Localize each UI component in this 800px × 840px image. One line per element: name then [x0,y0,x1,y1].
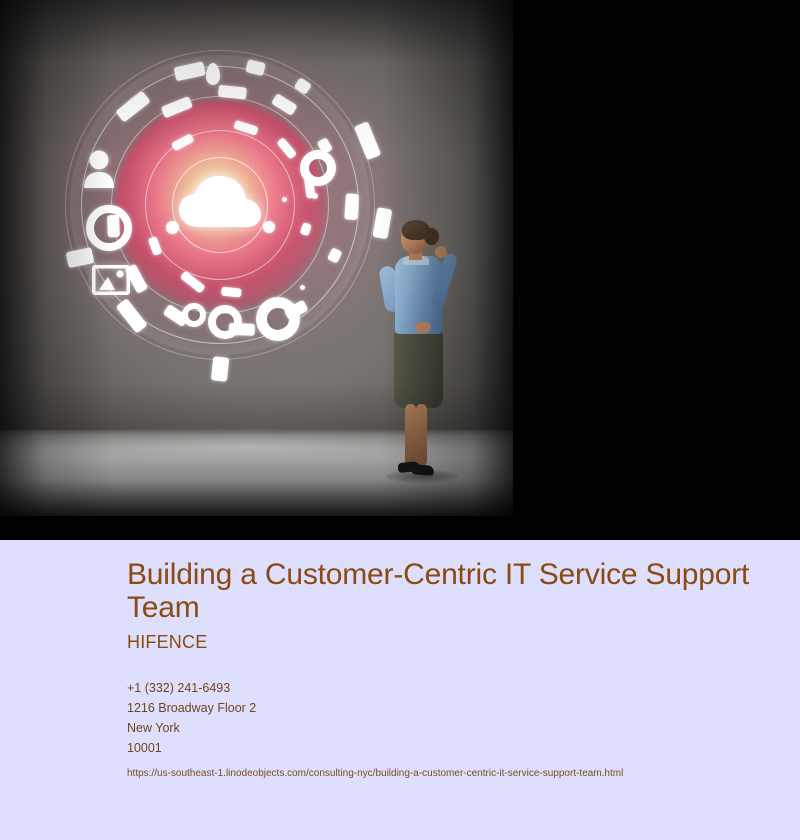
page-title: Building a Customer-Centric IT Service S… [127,558,767,624]
figure-hair-bun [424,228,439,245]
photo-image-icon [92,265,130,295]
businesswoman-figure [378,222,468,487]
figure-shoe [412,464,435,476]
figure-leg [416,404,427,466]
hud-dash [344,193,359,220]
contact-street: 1216 Broadway Floor 2 [127,698,767,718]
figure-leg [405,404,416,466]
hud-dot [312,193,318,199]
source-url[interactable]: https://us-southeast-1.linodeobjects.com… [127,767,767,781]
figure-skirt [394,330,443,408]
page-root: Building a Customer-Centric IT Service S… [0,0,800,840]
donut-ring-icon [86,205,132,251]
cloud-icon [177,175,263,231]
person-icon [82,150,116,188]
donut-ring-icon [208,305,242,339]
donut-ring-icon [256,297,300,341]
hud-dot [282,197,287,202]
donut-ring-icon [300,150,336,186]
hud-dot [263,221,275,233]
brand-name: HIFENCE [127,632,767,652]
contact-block: +1 (332) 241-6493 1216 Broadway Floor 2 … [127,678,767,758]
figure-raised-hand [435,246,447,258]
hud-dot [166,221,179,234]
hud-marker-icon [206,63,220,85]
hud-dash [221,287,242,298]
contact-city: New York [127,718,767,738]
donut-ring-icon [182,303,206,327]
info-panel-content: Building a Customer-Centric IT Service S… [127,558,767,781]
hero-image [0,0,513,516]
cloud-hud-graphic [60,45,380,365]
contact-phone[interactable]: +1 (332) 241-6493 [127,678,767,698]
contact-postal-code: 10001 [127,738,767,758]
info-panel: Building a Customer-Centric IT Service S… [0,540,800,840]
figure-hand-on-hip [415,322,431,333]
hud-dot [300,285,305,290]
hud-dash [211,356,229,382]
